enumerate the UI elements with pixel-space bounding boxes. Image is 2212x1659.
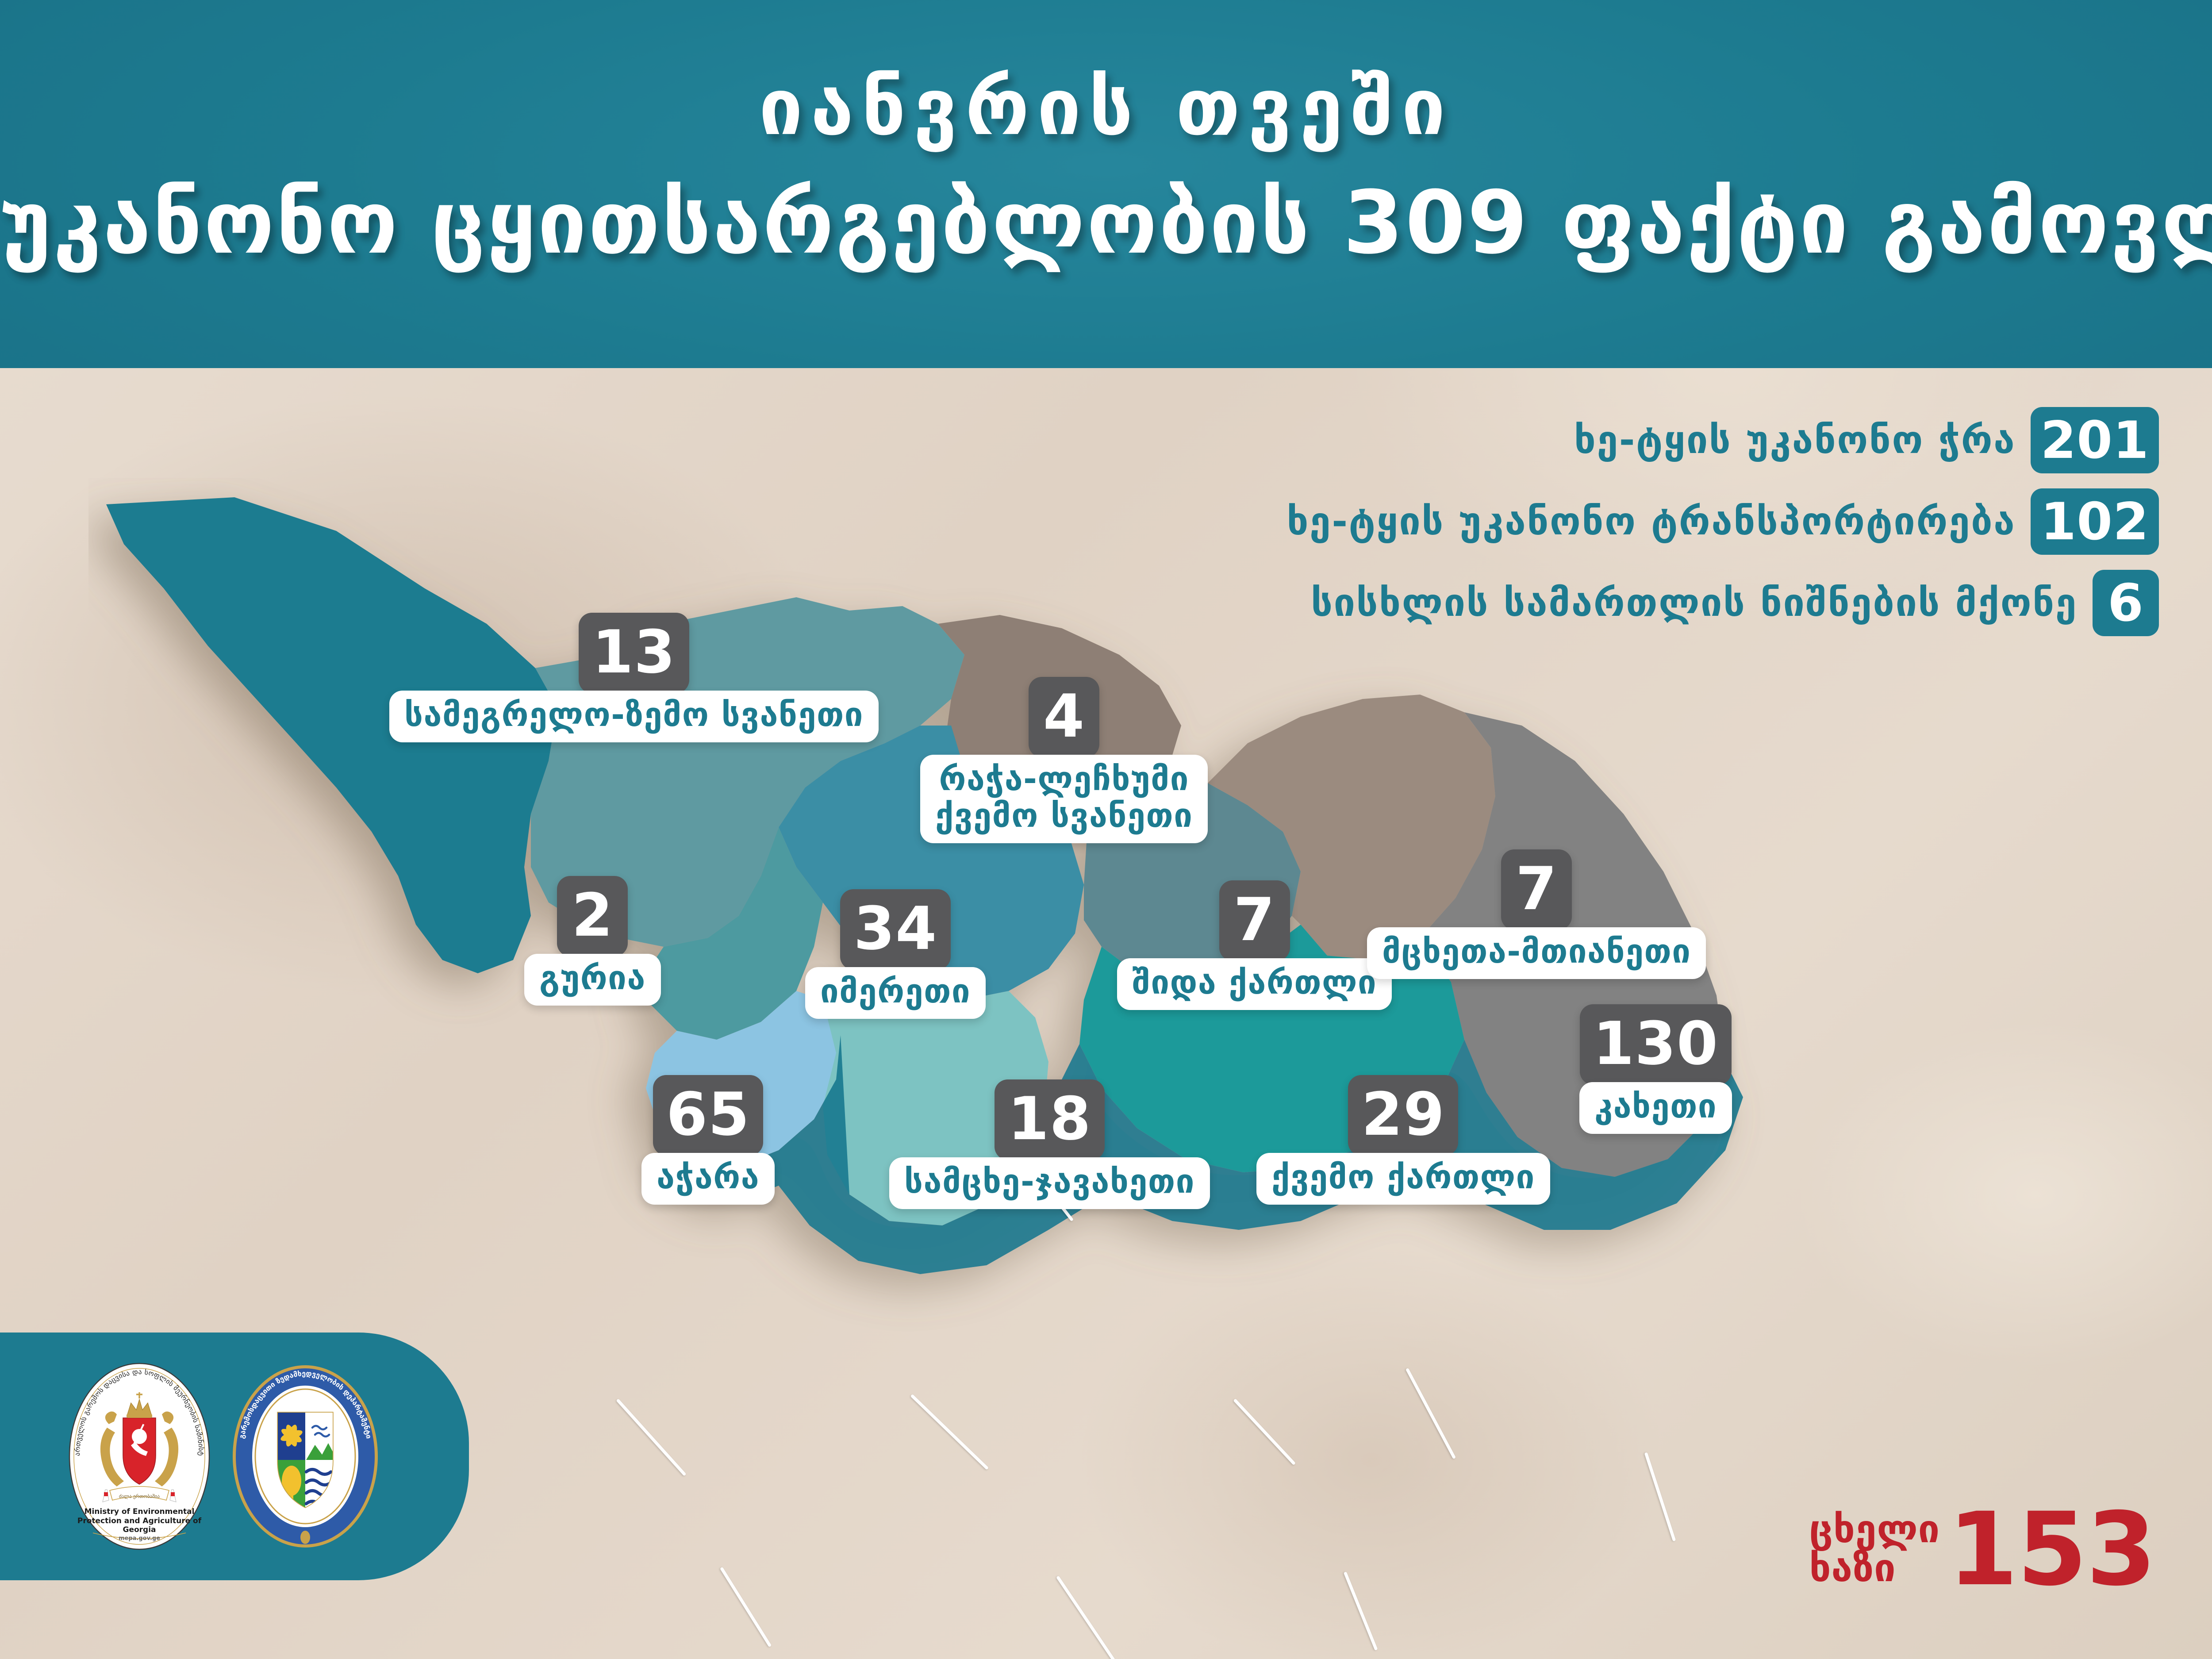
callout-label: კახეთი (1579, 1082, 1732, 1134)
callout-value: 13 (579, 613, 689, 693)
mepa-caption: Ministry of Environmental Protection and… (66, 1507, 212, 1535)
hotline-label: ცხელი ხაზი (1809, 1510, 1940, 1588)
page-title-line-2: უკანონო ცყითსარგებლობის 309 ფაქტი გამოვლ… (0, 173, 2212, 273)
callout-value: 2 (557, 876, 628, 956)
mepa-ministry-seal: ძალა ერთობაშია საქართველოს გარემოს დაცვი… (66, 1361, 212, 1551)
callout-value: 7 (1501, 849, 1572, 930)
hotline-number: 153 (1948, 1506, 2155, 1593)
ministry-logo-panel: ძალა ერთობაშია საქართველოს გარემოს დაცვი… (0, 1333, 469, 1580)
callout-label: სამცხე-ჯავახეთი (889, 1157, 1210, 1209)
leader-line (1056, 1576, 1115, 1659)
callout-value: 7 (1219, 880, 1290, 961)
hotline-block: ცხელი ხაზი 153 (1809, 1506, 2155, 1593)
callout-samegrelo-zemo-svaneti[interactable]: 13 სამეგრელო-ზემო სვანეთი (389, 613, 879, 742)
callout-samtskhe-javakheti[interactable]: 18 სამცხე-ჯავახეთი (889, 1079, 1210, 1209)
callout-imereti[interactable]: 34 იმერეთი (805, 889, 986, 1019)
environmental-supervision-department-seal: გარემოსდაცვითი ზედამხედველობის დეპარტამე… (230, 1361, 380, 1551)
callout-label: ქვემო ქართლი (1256, 1153, 1550, 1205)
callout-label: რაჭა-ლეჩხუმი ქვემო სვანეთი (920, 755, 1208, 843)
mepa-motto-text: ძალა ერთობაშია (119, 1494, 160, 1499)
title-total-count: 309 (1343, 173, 1529, 273)
callout-value: 4 (1029, 677, 1099, 757)
title-suffix: ფაქტი გამოვლინდა (1529, 173, 2212, 273)
hotline-word-2: ხაზი (1809, 1549, 1940, 1588)
mepa-url-text: mepa.gov.ge (66, 1535, 212, 1542)
callout-adjara[interactable]: 65 აჭარა (641, 1075, 775, 1205)
callout-label: იმერეთი (805, 967, 986, 1019)
callout-shida-kartli[interactable]: 7 შიდა ქართლი (1117, 880, 1392, 1010)
callout-label: გურია (524, 954, 661, 1006)
callout-value: 130 (1580, 1004, 1732, 1085)
callout-label: შიდა ქართლი (1117, 958, 1392, 1010)
callout-value: 65 (653, 1075, 763, 1156)
callout-label: სამეგრელო-ზემო სვანეთი (389, 691, 879, 742)
callout-mtskheta-mtianeti[interactable]: 7 მცხეთა-მთიანეთი (1367, 849, 1706, 979)
callout-racha-lechkhumi[interactable]: 4 რაჭა-ლეჩხუმი ქვემო სვანეთი (920, 677, 1208, 843)
callout-value: 18 (995, 1079, 1105, 1160)
callout-kakheti[interactable]: 130 კახეთი (1579, 1004, 1732, 1134)
callout-value: 29 (1348, 1075, 1458, 1156)
hotline-word-1: ცხელი (1809, 1510, 1940, 1549)
callout-kvemo-kartli[interactable]: 29 ქვემო ქართლი (1256, 1075, 1550, 1205)
callout-value: 34 (840, 889, 950, 970)
callout-label: აჭარა (641, 1153, 775, 1205)
title-prefix: უკანონო ცყითსარგებლობის (0, 173, 1343, 273)
header-banner: იანვრის თვეში უკანონო ცყითსარგებლობის 30… (0, 0, 2212, 368)
callout-guria[interactable]: 2 გურია (524, 876, 661, 1006)
page-title-line-1: იანვრის თვეში (0, 62, 2212, 153)
callout-label: მცხეთა-მთიანეთი (1367, 927, 1706, 979)
